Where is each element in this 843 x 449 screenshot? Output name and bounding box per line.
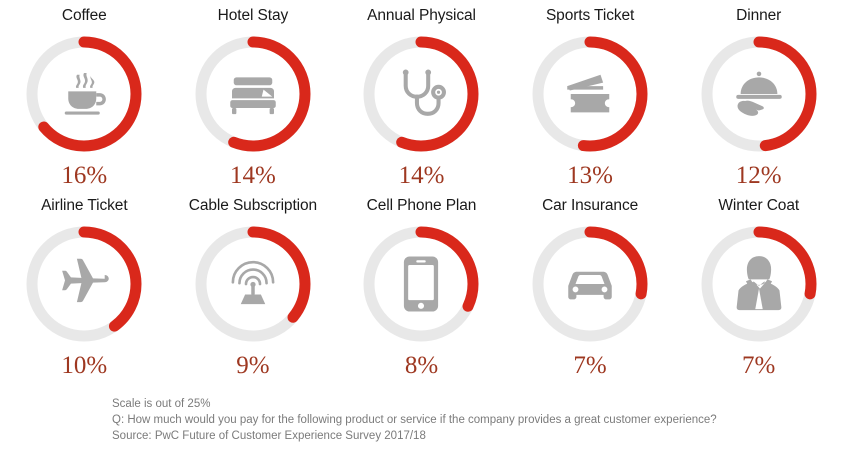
gauge-value: 8% xyxy=(405,352,438,380)
gauge-card-hotel-stay: Hotel Stay 14% xyxy=(169,6,338,196)
donut-gauge xyxy=(187,218,319,350)
donut-gauge xyxy=(187,28,319,160)
donut-gauge-svg xyxy=(693,218,825,350)
donut-gauge-svg xyxy=(693,28,825,160)
gauge-value: 12% xyxy=(736,162,782,190)
donut-gauge-svg xyxy=(18,28,150,160)
footer-question: Q: How much would you pay for the follow… xyxy=(112,412,812,428)
gauge-label: Airline Ticket xyxy=(41,196,127,216)
gauge-card-dinner: Dinner 12% xyxy=(674,6,843,196)
gauge-value: 9% xyxy=(236,352,269,380)
gauge-value: 14% xyxy=(230,162,276,190)
gauge-card-coffee: Coffee 16% xyxy=(0,6,169,196)
donut-gauge xyxy=(18,28,150,160)
donut-gauge xyxy=(693,28,825,160)
gauge-label: Car Insurance xyxy=(542,196,638,216)
donut-gauge xyxy=(524,28,656,160)
donut-gauge xyxy=(524,218,656,350)
donut-gauge-svg xyxy=(524,218,656,350)
donut-gauge-svg xyxy=(355,28,487,160)
gauge-grid: Coffee 16% Hotel Stay xyxy=(0,0,843,386)
donut-gauge-svg xyxy=(187,28,319,160)
gauge-label: Cable Subscription xyxy=(189,196,317,216)
gauge-card-cable-subscription: Cable Subscription 9% xyxy=(169,196,338,386)
footer-scale-note: Scale is out of 25% xyxy=(112,396,812,412)
gauge-card-winter-coat: Winter Coat 7% xyxy=(674,196,843,386)
footer-notes: Scale is out of 25% Q: How much would yo… xyxy=(112,396,812,444)
gauge-label: Hotel Stay xyxy=(218,6,289,26)
gauge-label: Sports Ticket xyxy=(546,6,634,26)
donut-gauge xyxy=(18,218,150,350)
donut-gauge-svg xyxy=(524,28,656,160)
gauge-card-car-insurance: Car Insurance 7% xyxy=(506,196,675,386)
gauge-card-annual-physical: Annual Physical 14% xyxy=(337,6,506,196)
gauge-label: Coffee xyxy=(62,6,107,26)
donut-gauge-svg xyxy=(187,218,319,350)
gauge-label: Winter Coat xyxy=(718,196,799,216)
gauge-label: Cell Phone Plan xyxy=(367,196,477,216)
gauge-value: 14% xyxy=(399,162,445,190)
donut-gauge xyxy=(355,28,487,160)
footer-source: Source: PwC Future of Customer Experienc… xyxy=(112,428,812,444)
gauge-value: 7% xyxy=(573,352,606,380)
gauge-label: Annual Physical xyxy=(367,6,476,26)
gauge-value: 10% xyxy=(61,352,107,380)
donut-gauge xyxy=(693,218,825,350)
gauge-label: Dinner xyxy=(736,6,781,26)
gauge-value: 13% xyxy=(567,162,613,190)
donut-gauge xyxy=(355,218,487,350)
donut-gauge-svg xyxy=(18,218,150,350)
donut-gauge-svg xyxy=(355,218,487,350)
gauge-value: 7% xyxy=(742,352,775,380)
gauge-card-sports-ticket: Sports Ticket 13% xyxy=(506,6,675,196)
gauge-card-airline-ticket: Airline Ticket 10% xyxy=(0,196,169,386)
gauge-value: 16% xyxy=(61,162,107,190)
gauge-card-cell-phone-plan: Cell Phone Plan 8% xyxy=(337,196,506,386)
